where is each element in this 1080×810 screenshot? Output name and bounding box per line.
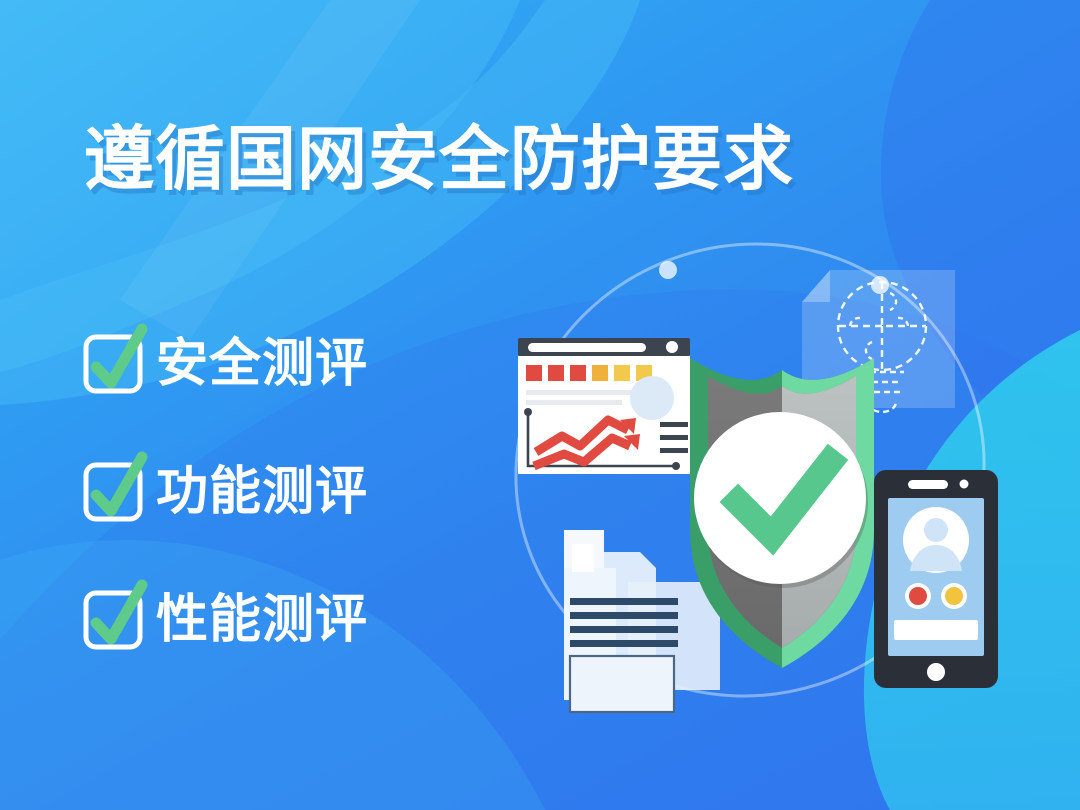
page-title: 遵循国网安全防护要求 bbox=[84, 122, 794, 196]
list-item[interactable]: 性能测评 bbox=[84, 588, 554, 652]
feature-checklist: 安全测评 功能测评 性能测评 bbox=[84, 332, 554, 652]
list-item[interactable]: 功能测评 bbox=[84, 460, 554, 524]
checkbox-checked-icon bbox=[84, 591, 142, 649]
illustration-svg bbox=[500, 230, 1060, 730]
list-item[interactable]: 安全测评 bbox=[84, 332, 554, 396]
checkbox-checked-glyph bbox=[80, 451, 152, 531]
security-assessment-illustration bbox=[500, 230, 1060, 730]
mobile-phone-profile bbox=[874, 470, 998, 688]
checkbox-checked-icon bbox=[84, 463, 142, 521]
person-avatar-icon bbox=[903, 507, 969, 573]
checkbox-checked-glyph bbox=[80, 323, 152, 403]
list-item-label: 功能测评 bbox=[156, 466, 368, 518]
checkbox-checked-glyph bbox=[80, 579, 152, 659]
list-item-label: 性能测评 bbox=[156, 594, 368, 646]
browser-chart-card bbox=[518, 338, 690, 474]
checkbox-checked-icon bbox=[84, 335, 142, 393]
list-item-label: 安全测评 bbox=[156, 338, 368, 390]
poster-canvas: 遵循国网安全防护要求 安全测评 功能测评 bbox=[0, 0, 1080, 810]
orbit-node bbox=[659, 261, 677, 279]
